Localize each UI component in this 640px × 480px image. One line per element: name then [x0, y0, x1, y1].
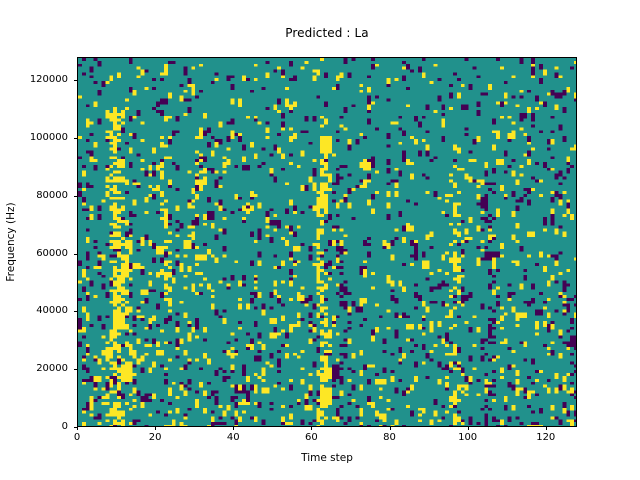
y-axis-label: Frequency (Hz)	[5, 202, 17, 281]
y-tick-mark	[74, 80, 77, 81]
heatmap-image	[78, 58, 577, 427]
x-tick-mark	[390, 427, 391, 430]
page-title: Predicted : La	[77, 26, 577, 40]
x-tick-label: 20	[135, 432, 175, 443]
y-tick-label: 40000	[0, 305, 68, 316]
y-tick-mark	[74, 254, 77, 255]
y-tick-label: 60000	[0, 248, 68, 259]
x-tick-label: 100	[448, 432, 488, 443]
x-tick-label: 40	[213, 432, 253, 443]
y-tick-mark	[74, 427, 77, 428]
x-tick-mark	[77, 427, 78, 430]
y-tick-label: 120000	[0, 74, 68, 85]
x-axis-label: Time step	[77, 452, 577, 464]
y-tick-label: 80000	[0, 190, 68, 201]
x-tick-label: 60	[291, 432, 331, 443]
heatmap-axes	[77, 57, 577, 427]
matplotlib-figure: Predicted : La Time step Frequency (Hz) …	[0, 0, 640, 480]
x-tick-mark	[311, 427, 312, 430]
y-tick-mark	[74, 196, 77, 197]
x-tick-mark	[155, 427, 156, 430]
x-tick-mark	[468, 427, 469, 430]
x-tick-mark	[546, 427, 547, 430]
y-tick-label: 0	[0, 421, 68, 432]
x-tick-label: 80	[370, 432, 410, 443]
y-tick-mark	[74, 369, 77, 370]
y-tick-mark	[74, 138, 77, 139]
x-tick-mark	[233, 427, 234, 430]
y-tick-mark	[74, 311, 77, 312]
y-tick-label: 100000	[0, 132, 68, 143]
x-tick-label: 120	[526, 432, 566, 443]
y-tick-label: 20000	[0, 363, 68, 374]
x-tick-label: 0	[57, 432, 97, 443]
